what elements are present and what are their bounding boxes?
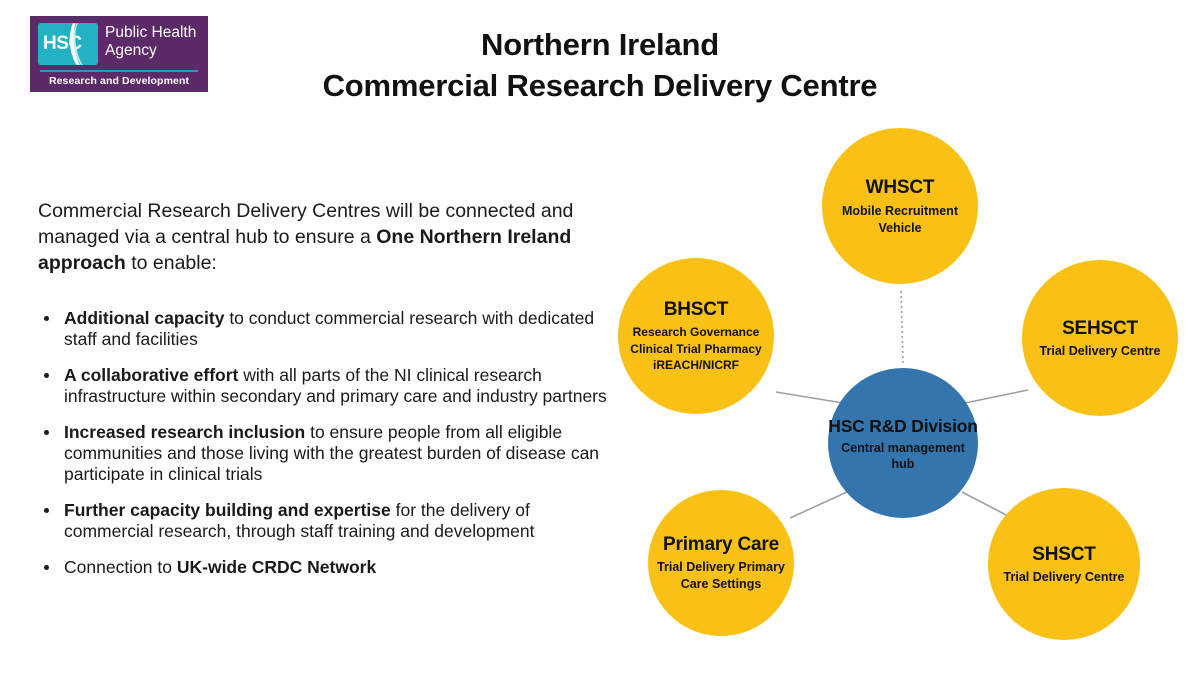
node-primary-care-subtitle: Trial Delivery Primary Care Settings [656, 559, 786, 593]
node-bhsct-subtitle: Research Governance Clinical Trial Pharm… [620, 324, 772, 374]
node-whsct[interactable]: WHSCT Mobile Recruitment Vehicle [822, 128, 978, 284]
node-shsct-subtitle: Trial Delivery Centre [993, 569, 1135, 586]
benefits-list: Additional capacity to conduct commercia… [38, 308, 610, 578]
logo-wordmark: Public Health Agency [105, 23, 196, 60]
hsc-badge-icon: HSC [38, 23, 98, 65]
node-primary-care[interactable]: Primary Care Trial Delivery Primary Care… [648, 490, 794, 636]
list-item: Increased research inclusion to ensure p… [38, 422, 610, 485]
node-shsct-title: SHSCT [1032, 543, 1095, 566]
connector-hub-shsct [962, 492, 1012, 518]
node-whsct-title: WHSCT [866, 176, 935, 199]
node-whsct-subtitle: Mobile Recruitment Vehicle [834, 203, 966, 237]
page-title: Northern Ireland Commercial Research Del… [240, 24, 960, 106]
list-item-bold: UK-wide CRDC Network [177, 557, 376, 577]
list-item-bold: Increased research inclusion [64, 422, 305, 442]
node-sehsct[interactable]: SEHSCT Trial Delivery Centre [1022, 260, 1178, 416]
connector-hub-whsct [901, 288, 903, 363]
node-sehsct-title: SEHSCT [1062, 317, 1138, 340]
connector-hub-sehsct [965, 390, 1028, 403]
node-hsc-rd-division[interactable]: HSC R&D Division Central management hub [828, 368, 978, 518]
list-item-bold: Further capacity building and expertise [64, 500, 391, 520]
logo-wordmark-line2: Agency [105, 42, 196, 60]
logo-subtitle: Research and Development [38, 75, 200, 87]
list-item-bold: Additional capacity [64, 308, 224, 328]
bullet-dot-icon [44, 508, 49, 513]
connector-hub-primary [790, 492, 847, 518]
node-sehsct-subtitle: Trial Delivery Centre [1027, 343, 1173, 360]
intro-part2: to enable: [126, 252, 217, 274]
list-item-bold: A collaborative effort [64, 365, 238, 385]
connector-hub-bhsct [776, 392, 843, 403]
node-hub-title: HSC R&D Division [828, 415, 977, 437]
list-item: Further capacity building and expertise … [38, 500, 610, 542]
list-item: Connection to UK-wide CRDC Network [38, 557, 610, 578]
node-shsct[interactable]: SHSCT Trial Delivery Centre [988, 488, 1140, 640]
logo-divider [40, 70, 198, 72]
logo-top-row: HSC Public Health Agency [38, 23, 200, 68]
bullet-dot-icon [44, 316, 49, 321]
page-title-line1: Northern Ireland [240, 24, 960, 65]
list-item-lead: Connection to [64, 557, 177, 577]
list-item: Additional capacity to conduct commercia… [38, 308, 610, 350]
page-title-line2: Commercial Research Delivery Centre [240, 65, 960, 106]
intro-paragraph: Commercial Research Delivery Centres wil… [38, 198, 598, 276]
node-bhsct-title: BHSCT [664, 298, 728, 321]
node-bhsct[interactable]: BHSCT Research Governance Clinical Trial… [618, 258, 774, 414]
pha-logo: HSC Public Health Agency Research and De… [30, 16, 208, 92]
list-item: A collaborative effort with all parts of… [38, 365, 610, 407]
hub-and-spoke-diagram: WHSCT Mobile Recruitment Vehicle BHSCT R… [600, 120, 1200, 640]
bullet-dot-icon [44, 430, 49, 435]
bullet-dot-icon [44, 565, 49, 570]
node-hub-subtitle: Central management hub [836, 440, 971, 472]
logo-wordmark-line1: Public Health [105, 24, 196, 42]
node-primary-care-title: Primary Care [663, 533, 779, 556]
bullet-dot-icon [44, 373, 49, 378]
